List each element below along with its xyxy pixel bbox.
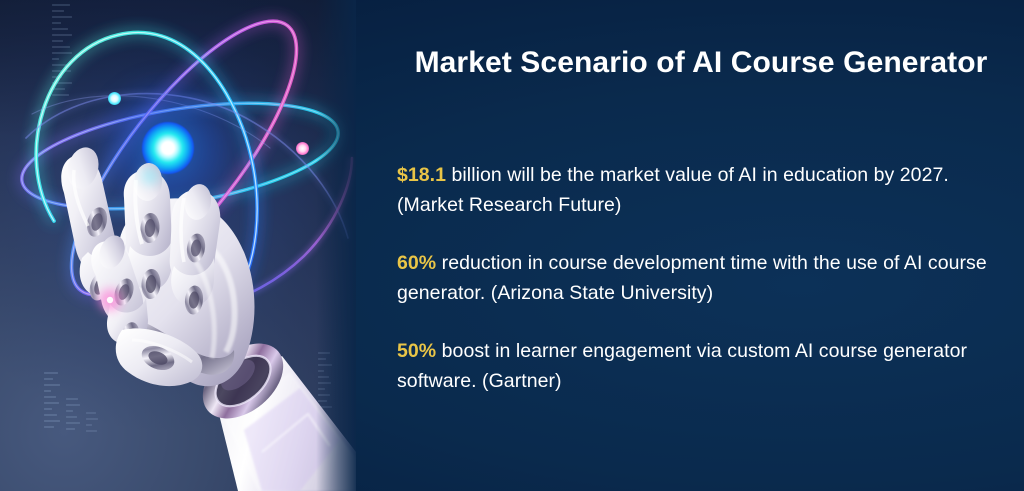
stat-item: 50% boost in learner engagement via cust… (397, 336, 1011, 396)
hero-edge-blend (316, 0, 356, 491)
robotic-hand (0, 0, 356, 491)
stat-text: boost in learner engagement via custom A… (397, 340, 967, 392)
infographic-slide: Market Scenario of AI Course Generator $… (0, 0, 1024, 491)
stat-item: $18.1 billion will be the market value o… (397, 160, 1011, 220)
hero-image (0, 0, 356, 491)
stat-highlight: 60% (397, 252, 436, 274)
stat-highlight: $18.1 (397, 164, 446, 186)
page-title: Market Scenario of AI Course Generator (386, 44, 1016, 82)
stat-list: $18.1 billion will be the market value o… (397, 160, 1011, 396)
stat-text: reduction in course development time wit… (397, 252, 987, 304)
robotic-hand-svg (0, 0, 356, 491)
stat-text: billion will be the market value of AI i… (397, 164, 949, 216)
content-panel: Market Scenario of AI Course Generator $… (386, 0, 1016, 491)
stat-item: 60% reduction in course development time… (397, 248, 1011, 308)
stat-highlight: 50% (397, 340, 436, 362)
